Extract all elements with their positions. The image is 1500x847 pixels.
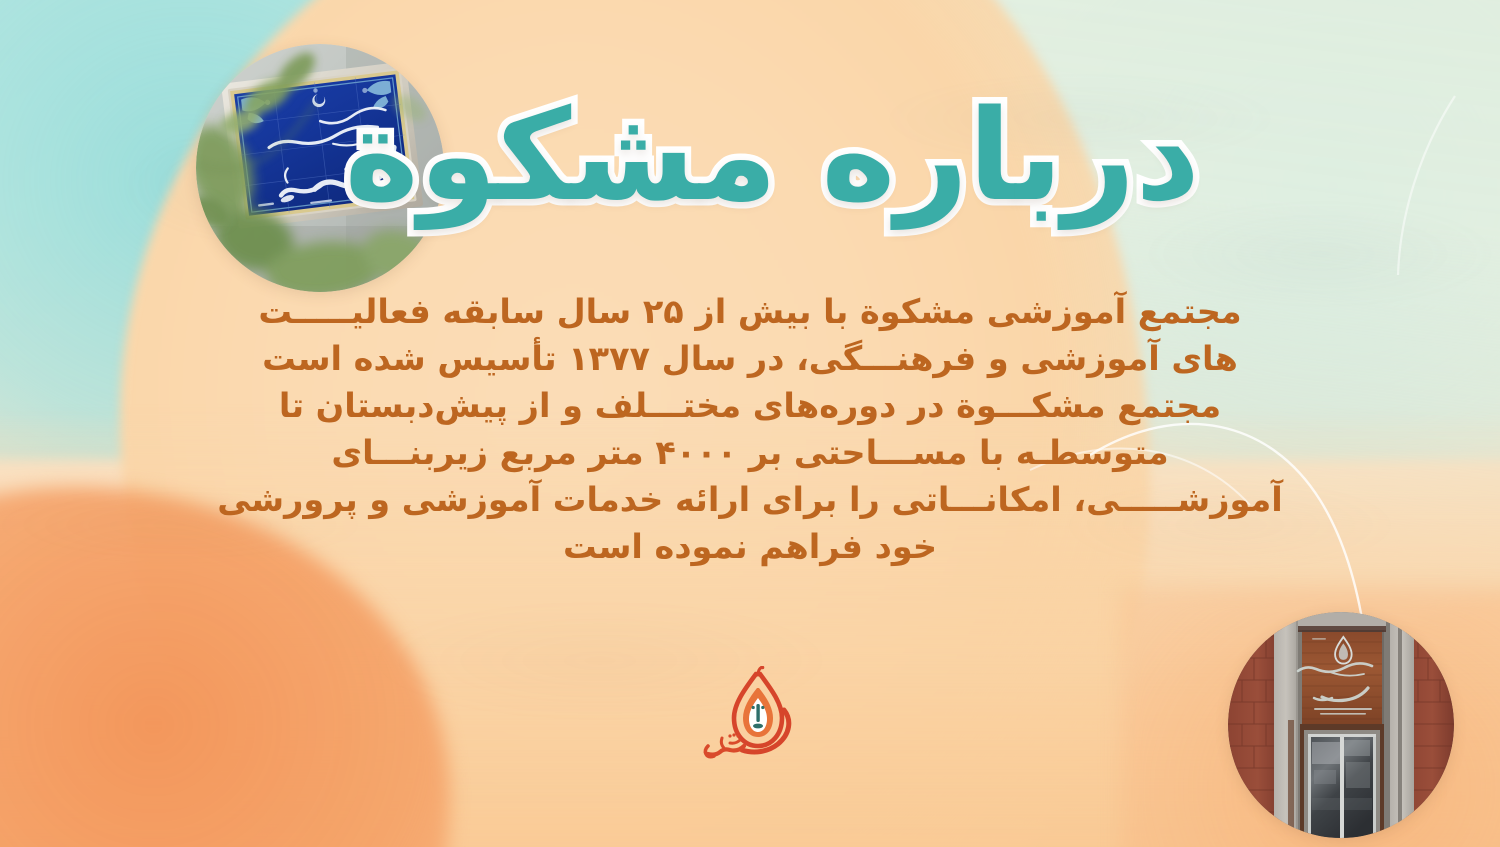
page-title-text: درباره مشکوة [345,88,1200,224]
page-title: درباره مشکوة [370,88,1200,224]
about-paragraph: مجتمع آموزشی مشکوة با بیش از ۲۵ سال سابق… [0,288,1500,570]
flame-lamp-icon [698,666,810,770]
about-meshkat-poster: درباره مشکوة مجتمع آموزشی مشکوة با بیش ا… [0,0,1500,847]
meshkat-logo [698,666,810,770]
school-entrance-illustration [1228,612,1454,838]
about-paragraph-line: مجتمع آموزشی مشکوة با بیش از ۲۵ سال سابق… [150,288,1350,335]
about-paragraph-line: های آموزشی و فرهنـــگی، در سال ۱۳۷۷ تأسی… [150,335,1350,382]
about-paragraph-line: خود فراهم نموده است [150,523,1350,570]
school-entrance-photo [1228,612,1454,838]
about-paragraph-line: متوسطـه با مســـاحتی بر ۴۰۰۰ متر مربع زی… [150,429,1350,476]
about-paragraph-line: آموزشـــــی، امکانـــاتی را برای ارائه خ… [150,476,1350,523]
logo-wordmark [705,733,744,756]
about-paragraph-line: مجتمع مشکـــوة در دوره‌های مختـــلف و از… [150,382,1350,429]
